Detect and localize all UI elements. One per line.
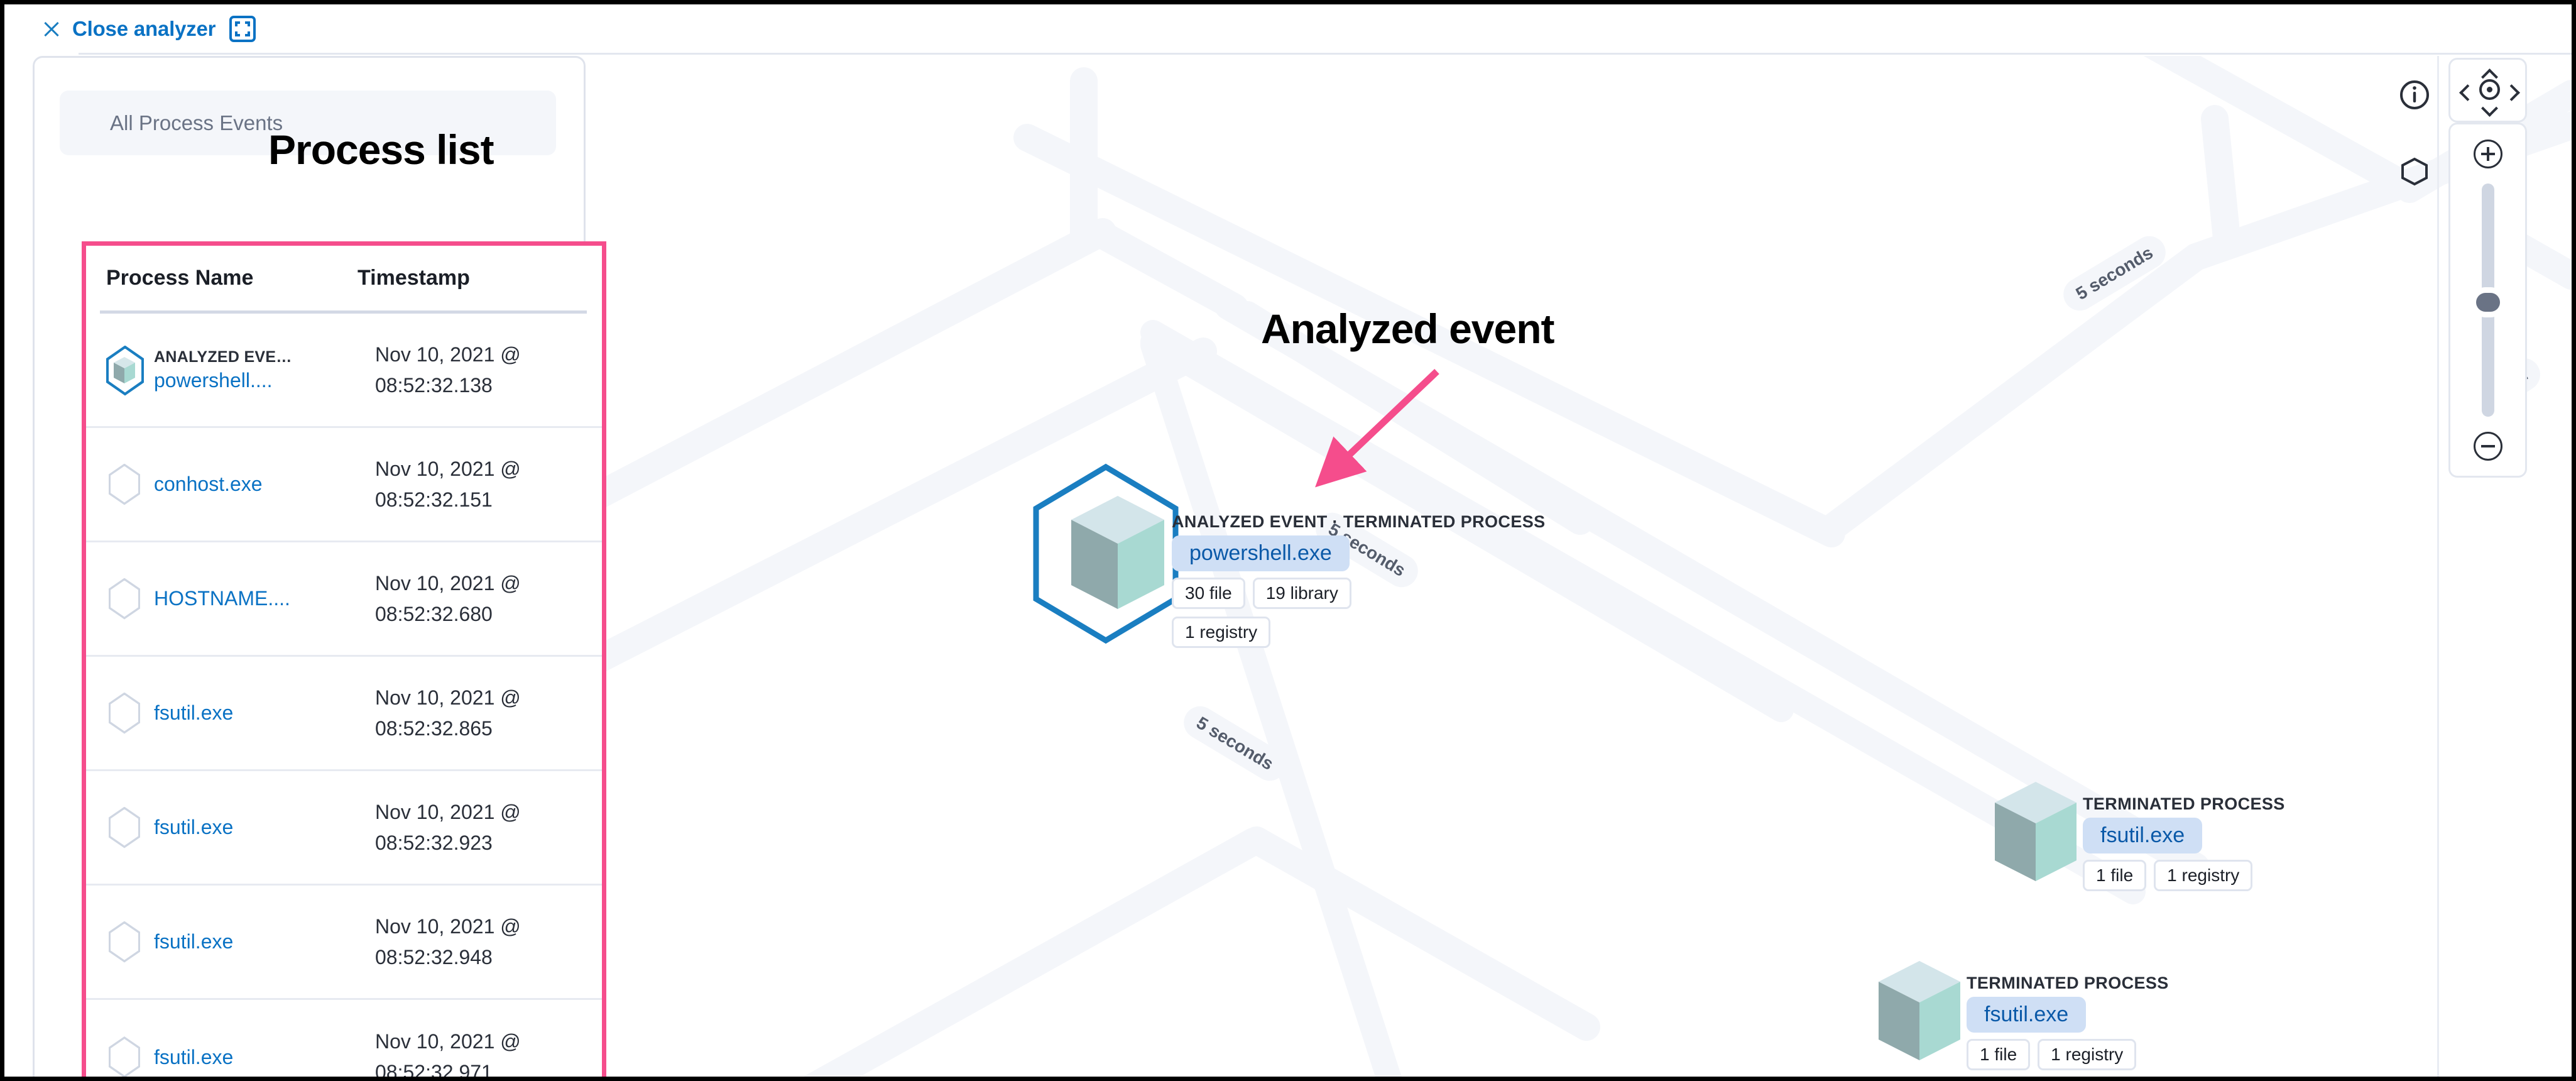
graph-edges (587, 56, 2572, 1081)
table-row[interactable]: HOSTNAME.... Nov 10, 2021 @ 08:52:32.680 (86, 542, 602, 657)
table-row[interactable]: conhost.exe Nov 10, 2021 @ 08:52:32.151 (86, 428, 602, 542)
timestamp-cell: Nov 10, 2021 @ 08:52:32.138 (375, 339, 521, 400)
timestamp-cell: Nov 10, 2021 @ 08:52:32.151 (375, 454, 521, 515)
hexagon-icon (104, 915, 145, 969)
timestamp-date: Nov 10, 2021 @ (375, 797, 521, 828)
canvas-right-divider (2437, 56, 2439, 1081)
timestamp-time: 08:52:32.865 (375, 713, 521, 744)
table-row[interactable]: fsutil.exe Nov 10, 2021 @ 08:52:32.865 (86, 657, 602, 771)
node-process-pill[interactable]: powershell.exe (1172, 535, 1350, 571)
node-kind-label: ANALYZED EVENT · TERMINATED PROCESS (1172, 512, 1546, 532)
timestamp-date: Nov 10, 2021 @ (375, 454, 521, 485)
close-x-icon (41, 18, 62, 40)
table-row[interactable]: fsutil.exe Nov 10, 2021 @ 08:52:32.971 (86, 1000, 602, 1081)
cube-icon (1071, 496, 1164, 609)
close-analyzer-label: Close analyzer (72, 17, 216, 41)
info-circle-icon[interactable] (2399, 80, 2430, 110)
analyzer-screen: Close analyzer All Process Events Proces… (0, 0, 2576, 1081)
node-badge[interactable]: 30 file (1172, 578, 1245, 609)
hexagon-icon[interactable] (2398, 155, 2431, 188)
hexagon-icon (104, 801, 145, 855)
column-header-timestamp: Timestamp (357, 266, 470, 290)
chevron-left-icon[interactable] (2459, 84, 2475, 101)
node-kind-label: TERMINATED PROCESS (2083, 794, 2285, 814)
timestamp-cell: Nov 10, 2021 @ 08:52:32.948 (375, 911, 521, 972)
timestamp-time: 08:52:32.680 (375, 599, 521, 630)
process-name-link[interactable]: conhost.exe (154, 473, 263, 496)
node-badge[interactable]: 19 library (1253, 578, 1351, 609)
timestamp-date: Nov 10, 2021 @ (375, 683, 521, 713)
process-table-body: ANALYZED EVE… powershell.... Nov 10, 202… (86, 314, 602, 1081)
node-process-pill[interactable]: fsutil.exe (2083, 818, 2202, 853)
process-table: Process Name Timestamp (82, 241, 606, 1081)
chevron-down-icon[interactable] (2481, 100, 2497, 116)
top-bar: Close analyzer (4, 4, 2572, 53)
node-badge[interactable]: 1 registry (1172, 617, 1270, 648)
center-target-icon[interactable] (2479, 79, 2500, 100)
close-analyzer-button[interactable]: Close analyzer (41, 17, 216, 41)
node-badge[interactable]: 1 file (2083, 860, 2146, 891)
zoom-control-panel[interactable] (2448, 123, 2527, 478)
process-name-link[interactable]: fsutil.exe (154, 701, 233, 725)
callout-arrow-icon (1311, 363, 1456, 488)
hexagon-icon (104, 686, 145, 740)
node-process-pill[interactable]: fsutil.exe (1967, 997, 2086, 1033)
timestamp-time: 08:52:32.923 (375, 828, 521, 859)
zoom-slider-thumb[interactable] (2476, 293, 2500, 312)
minus-circle-icon[interactable] (2474, 432, 2502, 461)
table-row[interactable]: ANALYZED EVE… powershell.... Nov 10, 202… (86, 314, 602, 428)
hexagon-icon (104, 1030, 145, 1081)
zoom-slider[interactable] (2482, 184, 2494, 417)
plus-circle-icon[interactable] (2474, 140, 2502, 168)
timestamp-date: Nov 10, 2021 @ (375, 568, 521, 599)
process-table-header: Process Name Timestamp (86, 246, 602, 310)
timestamp-cell: Nov 10, 2021 @ 08:52:32.865 (375, 683, 521, 744)
hexagon-icon (104, 458, 145, 512)
cube-icon (1879, 961, 1960, 1060)
node-kind-label: TERMINATED PROCESS (1967, 974, 2169, 993)
fullscreen-expand-icon[interactable] (229, 16, 256, 42)
node-badge[interactable]: 1 registry (2154, 860, 2252, 891)
timestamp-time: 08:52:32.138 (375, 370, 521, 401)
table-row[interactable]: fsutil.exe Nov 10, 2021 @ 08:52:32.948 (86, 886, 602, 1000)
timestamp-cell: Nov 10, 2021 @ 08:52:32.971 (375, 1026, 521, 1081)
column-header-process-name: Process Name (106, 266, 253, 290)
process-name-link[interactable]: powershell.... (154, 369, 292, 392)
timestamp-time: 08:52:32.948 (375, 942, 521, 973)
process-graph-canvas[interactable]: 5 seconds 5 seconds 5 seconds ANALYZED E… (587, 56, 2572, 1081)
process-name-link[interactable]: fsutil.exe (154, 930, 233, 953)
pan-control-pad[interactable] (2448, 58, 2527, 123)
chevron-right-icon[interactable] (2503, 84, 2519, 101)
table-row[interactable]: fsutil.exe Nov 10, 2021 @ 08:52:32.923 (86, 771, 602, 886)
timestamp-cell: Nov 10, 2021 @ 08:52:32.680 (375, 568, 521, 629)
timestamp-date: Nov 10, 2021 @ (375, 1026, 521, 1057)
row-tag: ANALYZED EVE… (154, 348, 292, 366)
timestamp-cell: Nov 10, 2021 @ 08:52:32.923 (375, 797, 521, 858)
node-badge[interactable]: 1 registry (2038, 1039, 2136, 1070)
header-divider (79, 53, 2572, 55)
cube-icon (114, 357, 135, 383)
timestamp-date: Nov 10, 2021 @ (375, 339, 521, 370)
process-list-panel: All Process Events Process Name Timestam… (33, 56, 586, 1081)
timestamp-time: 08:52:32.151 (375, 485, 521, 515)
hexagon-icon (104, 572, 145, 626)
timestamp-date: Nov 10, 2021 @ (375, 911, 521, 942)
event-type-select-value: All Process Events (110, 111, 283, 135)
analyzed-event-callout: Analyzed event (1261, 305, 1554, 353)
analyzed-hexagon-icon (104, 343, 145, 397)
node-badge[interactable]: 1 file (1967, 1039, 2030, 1070)
process-name-link[interactable]: fsutil.exe (154, 1046, 233, 1069)
process-name-link[interactable]: fsutil.exe (154, 816, 233, 839)
process-list-callout: Process list (268, 126, 494, 173)
cube-icon (1995, 782, 2077, 881)
timestamp-time: 08:52:32.971 (375, 1057, 521, 1081)
process-name-link[interactable]: HOSTNAME.... (154, 587, 290, 610)
